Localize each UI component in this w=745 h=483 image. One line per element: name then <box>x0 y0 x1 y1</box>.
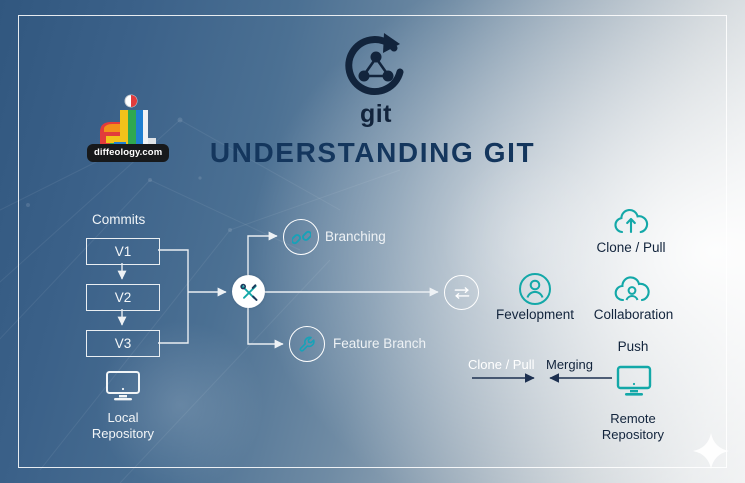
local-repository-label: Local Repository <box>60 410 186 442</box>
commits-heading: Commits <box>92 212 145 227</box>
monitor-icon <box>105 370 141 402</box>
page-title: UNDERSTANDING GIT <box>0 137 745 169</box>
sync-node[interactable] <box>444 275 479 310</box>
remote-repository-line2: Repository <box>602 427 664 442</box>
monitor-icon <box>616 365 652 397</box>
branching-label: Branching <box>325 229 386 244</box>
cloud-upload-icon <box>613 208 649 236</box>
user-circle-icon <box>518 272 552 306</box>
feature-branch-node[interactable] <box>289 326 325 362</box>
push-label: Push <box>570 339 696 354</box>
commit-box-v3[interactable]: V3 <box>86 330 160 357</box>
tools-icon <box>239 282 259 302</box>
clone-pull-label: Clone / Pull <box>566 240 696 255</box>
local-repository-line2: Repository <box>92 426 154 441</box>
cloud-user-icon <box>613 274 651 304</box>
local-repository-line1: Local <box>107 410 138 425</box>
git-wordmark: git <box>340 100 412 129</box>
feature-branch-label: Feature Branch <box>333 336 426 351</box>
chain-link-icon <box>292 228 311 247</box>
git-infographic-poster: diffeology.com git UNDERSTANDING GIT <box>0 0 745 483</box>
exchange-arrows-icon <box>452 283 472 303</box>
wrench-icon <box>298 335 317 354</box>
branching-node[interactable] <box>283 219 319 255</box>
remote-repository-line1: Remote <box>610 411 656 426</box>
collaboration-label: Collaboration <box>566 307 701 322</box>
remote-repository-label: Remote Repository <box>568 411 698 443</box>
commit-box-v1[interactable]: V1 <box>86 238 160 265</box>
clone-pull-arrow-label: Clone / Pull <box>468 357 534 372</box>
hub-node[interactable] <box>232 275 265 308</box>
git-logo-icon <box>340 28 412 104</box>
merging-arrow-label: Merging <box>546 357 593 372</box>
commit-box-v2[interactable]: V2 <box>86 284 160 311</box>
